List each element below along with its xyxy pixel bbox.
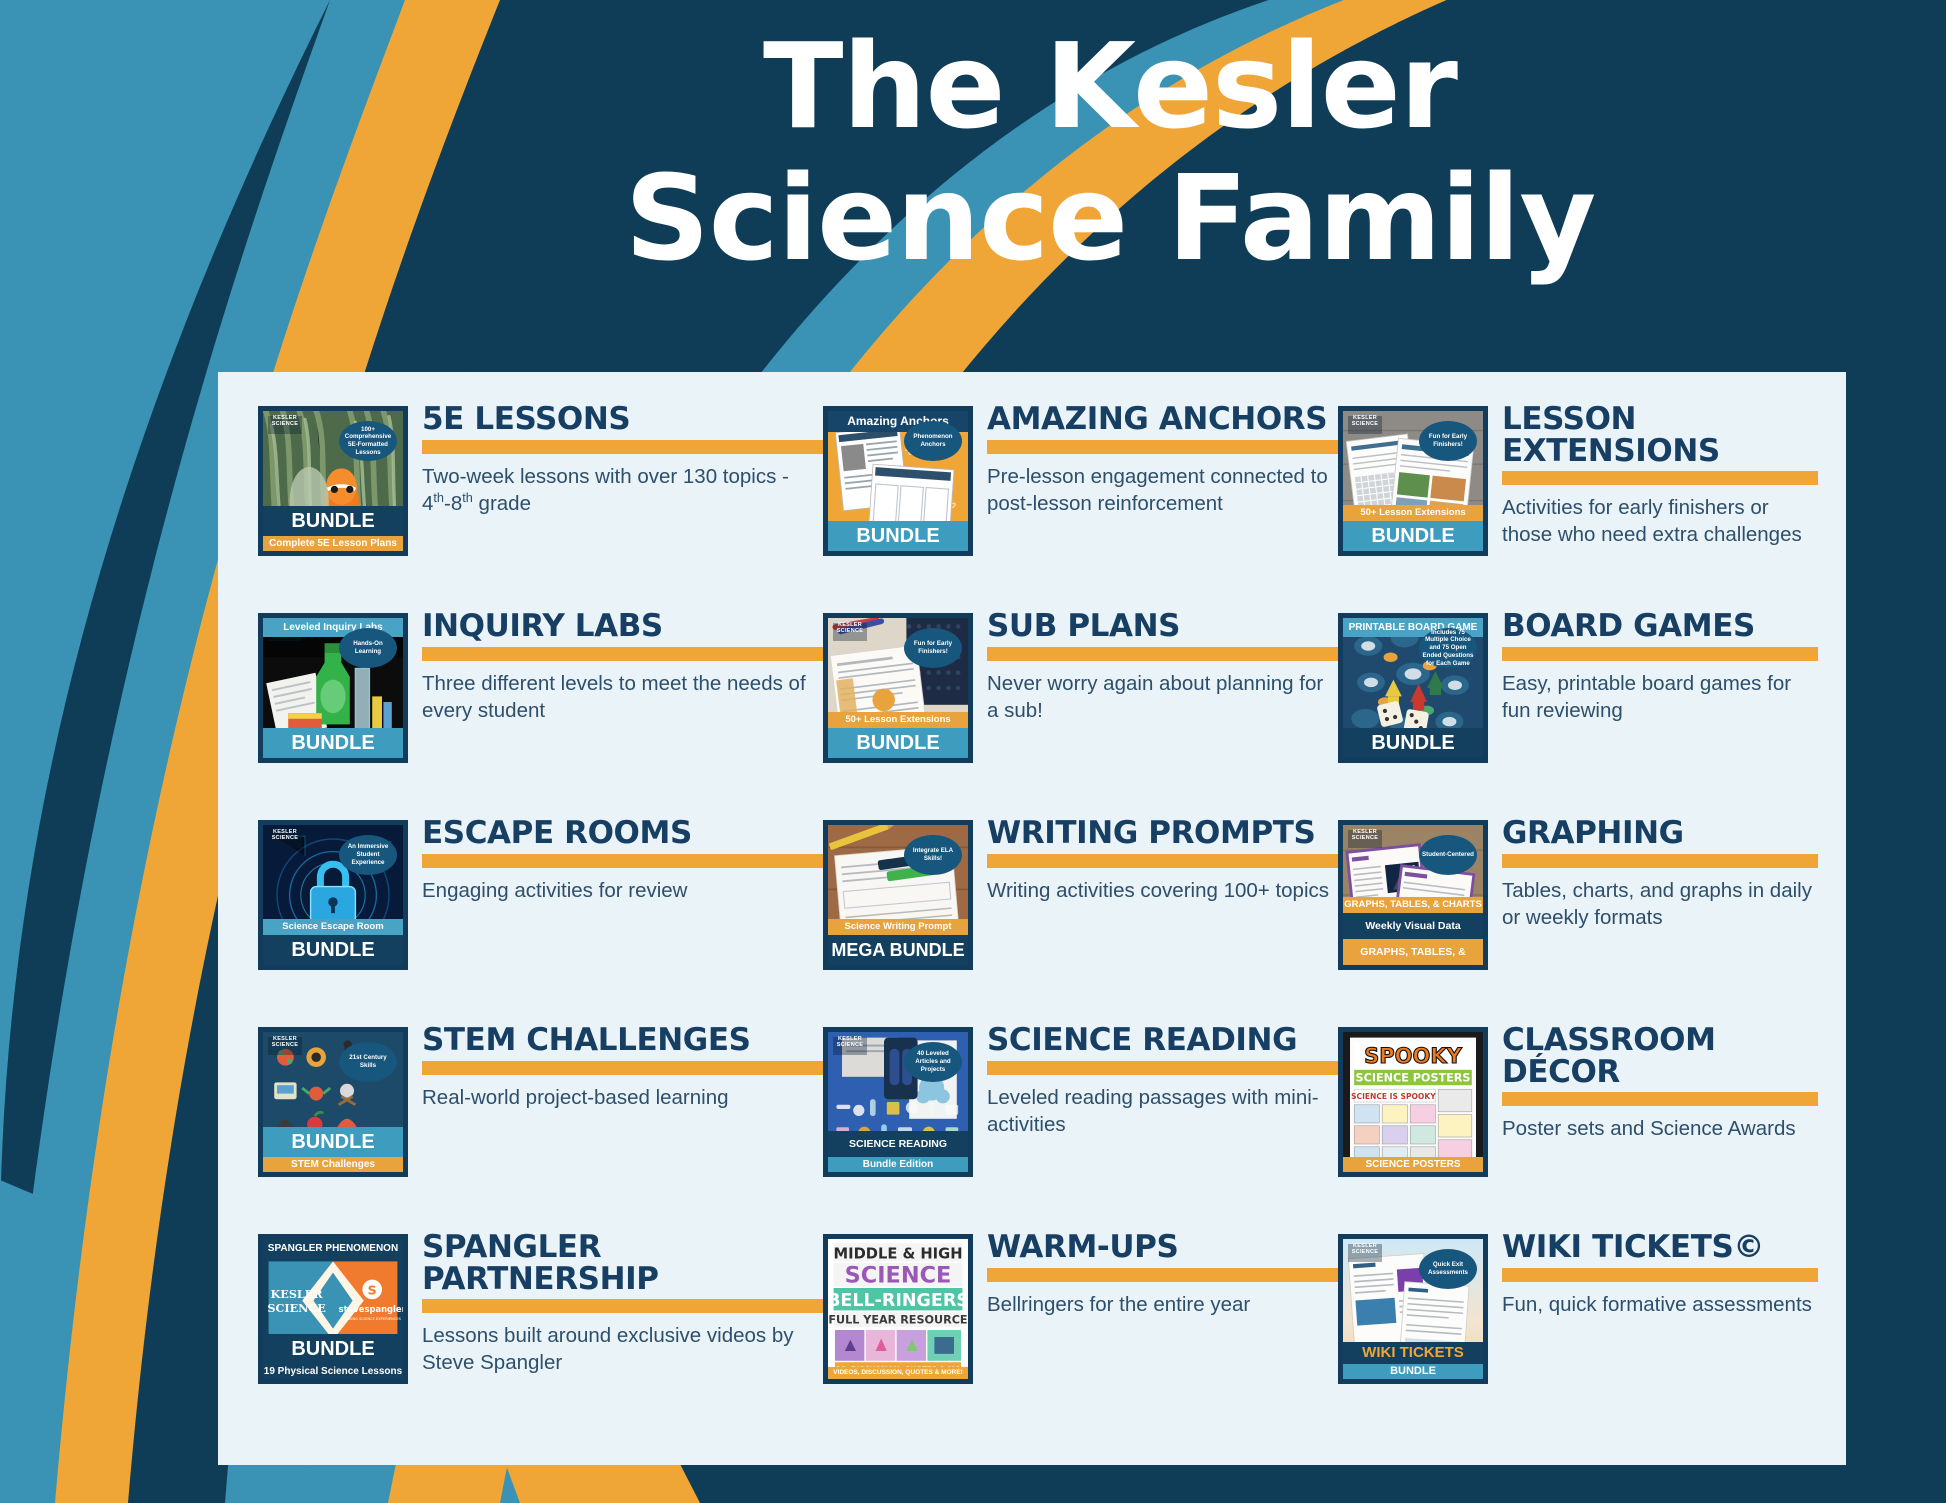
- product-description: Poster sets and Science Awards: [1502, 1115, 1818, 1142]
- kesler-science-logo-icon: KESLERSCIENCE: [833, 1037, 867, 1055]
- product-thumbnail[interactable]: KESLERSCIENCEAn Immersive Student Experi…: [258, 820, 408, 970]
- thumbnail-badge: Hands-On Learning: [339, 628, 397, 668]
- product-card[interactable]: KESLER SCIENCE S stevespangler MAKING SC…: [258, 1230, 823, 1437]
- product-card[interactable]: KESLERSCIENCEAn Immersive Student Experi…: [258, 816, 823, 1023]
- thumbnail-caption-band: Science Escape Room: [263, 919, 403, 935]
- thumbnail-caption-band: GRAPHS, TABLES, & CHARTS: [1343, 939, 1483, 965]
- product-description: Easy, printable board games for fun revi…: [1502, 670, 1818, 724]
- product-thumbnail[interactable]: KESLERSCIENCELeveled Inquiry LabsHands-O…: [258, 613, 408, 763]
- product-description: Leveled reading passages with mini-activ…: [987, 1084, 1338, 1138]
- thumbnail-caption-band: BUNDLE: [263, 506, 403, 536]
- svg-text:MIDDLE & HIGH: MIDDLE & HIGH: [834, 1246, 963, 1263]
- product-title-underline: [422, 1299, 823, 1313]
- product-thumbnail[interactable]: KESLERSCIENCEFun for Early Finishers!BUN…: [823, 613, 973, 763]
- product-title-underline: [422, 440, 823, 454]
- product-title-underline: [987, 440, 1338, 454]
- thumbnail-top-label: SPANGLER PHENOMENON: [263, 1239, 403, 1258]
- product-body: WARM-UPS Bellringers for the entire year: [987, 1230, 1338, 1318]
- product-title-underline: [1502, 1268, 1818, 1282]
- thumbnail-caption-band: BUNDLE: [263, 935, 403, 965]
- product-card[interactable]: SPOOKY SCIENCE POSTERS SCIENCE IS SPOOKY: [1338, 1023, 1818, 1230]
- product-title: SCIENCE READING: [987, 1025, 1338, 1057]
- product-title-underline: [987, 1061, 1338, 1075]
- product-description: Two-week lessons with over 130 topics - …: [422, 463, 823, 517]
- thumbnail-badge: 100+ Comprehensive 5E-Formatted Lessons: [339, 421, 397, 461]
- product-title-underline: [1502, 854, 1818, 868]
- product-thumbnail[interactable]: MIDDLE & HIGH SCIENCE BELL-RINGERS FULL …: [823, 1234, 973, 1384]
- thumbnail-caption-band: BUNDLE: [263, 1127, 403, 1157]
- page-title: The Kesler Science Family: [560, 20, 1660, 284]
- product-card[interactable]: KESLERSCIENCEFun for Early Finishers!BUN…: [1338, 402, 1818, 609]
- product-description: Writing activities covering 100+ topics: [987, 877, 1338, 904]
- product-card[interactable]: Amazing AnchorsPhenomenon AnchorsBUNDLE …: [823, 402, 1338, 609]
- thumbnail-badge: Includes 75 Multiple Choice and 75 Open …: [1419, 628, 1477, 668]
- product-title: LESSON EXTENSIONS: [1502, 404, 1818, 467]
- product-thumbnail[interactable]: KESLERSCIENCE21st Century SkillsSTEM Cha…: [258, 1027, 408, 1177]
- thumbnail-caption-band: BUNDLE: [1343, 521, 1483, 551]
- thumbnail-badge: Phenomenon Anchors: [904, 421, 962, 461]
- thumbnail-caption-band: Complete 5E Lesson Plans: [263, 536, 403, 551]
- thumbnail-badge: 40 Leveled Articles and Projects: [904, 1042, 962, 1082]
- title-line-1: The Kesler: [763, 17, 1457, 155]
- thumbnail-caption-band: STEM Challenges: [263, 1157, 403, 1172]
- thumbnail-badge: An Immersive Student Experience: [339, 835, 397, 875]
- svg-text:SCIENCE: SCIENCE: [845, 1262, 952, 1288]
- thumbnail-caption-band: BUNDLE: [828, 728, 968, 758]
- thumbnail-caption-band: 19 Physical Science Lessons: [263, 1364, 403, 1379]
- product-body: WIKI TICKETS© Fun, quick formative asses…: [1502, 1230, 1818, 1318]
- kesler-science-logo-icon: KESLERSCIENCE: [268, 416, 302, 434]
- thumbnail-badge: Student-Centered: [1419, 835, 1477, 875]
- svg-text:KESLER: KESLER: [271, 1287, 324, 1301]
- product-title: STEM CHALLENGES: [422, 1025, 823, 1057]
- product-description: Lessons built around exclusive videos by…: [422, 1322, 823, 1376]
- product-card[interactable]: KESLERSCIENCE40 Leveled Articles and Pro…: [823, 1023, 1338, 1230]
- svg-text:stevespangler: stevespangler: [339, 1304, 403, 1314]
- thumbnail-caption-band: Bundle Edition: [828, 1157, 968, 1172]
- svg-text:S: S: [368, 1282, 377, 1297]
- svg-text:MAKING SCIENCE EXPERIENCES: MAKING SCIENCE EXPERIENCES: [343, 1317, 401, 1321]
- product-thumbnail[interactable]: KESLERSCIENCEQuick Exit AssessmentsBUNDL…: [1338, 1234, 1488, 1384]
- product-body: STEM CHALLENGES Real-world project-based…: [422, 1023, 823, 1111]
- product-title: BOARD GAMES: [1502, 611, 1818, 643]
- products-panel: KESLERSCIENCE100+ Comprehensive 5E-Forma…: [218, 372, 1846, 1465]
- thumbnail-caption-band: VIDEOS, DISCUSSION, QUOTES & MORE!: [828, 1367, 968, 1379]
- product-title-underline: [422, 647, 823, 661]
- products-grid: KESLERSCIENCE100+ Comprehensive 5E-Forma…: [258, 402, 1818, 1437]
- svg-text:FULL YEAR RESOURCE: FULL YEAR RESOURCE: [828, 1314, 967, 1327]
- product-thumbnail[interactable]: KESLER SCIENCE S stevespangler MAKING SC…: [258, 1234, 408, 1384]
- product-title-underline: [1502, 647, 1818, 661]
- product-card[interactable]: KESLERSCIENCE100+ Comprehensive 5E-Forma…: [258, 402, 823, 609]
- thumbnail-caption-band: WIKI TICKETS: [1343, 1342, 1483, 1364]
- svg-text:SCIENCE POSTERS: SCIENCE POSTERS: [1356, 1072, 1471, 1085]
- thumbnail-caption-band: MEGA BUNDLE: [828, 935, 968, 965]
- product-description: Tables, charts, and graphs in daily or w…: [1502, 877, 1818, 931]
- product-body: LESSON EXTENSIONS Activities for early f…: [1502, 402, 1818, 548]
- product-description: Activities for early finishers or those …: [1502, 494, 1818, 548]
- product-title: SUB PLANS: [987, 611, 1338, 643]
- thumbnail-caption-band: GRAPHS, TABLES, & CHARTS: [1343, 897, 1483, 913]
- product-body: 5E LESSONS Two-week lessons with over 13…: [422, 402, 823, 517]
- product-title-underline: [987, 1268, 1338, 1282]
- product-card[interactable]: PRINTABLE BOARD GAMEIncludes 75 Multiple…: [1338, 609, 1818, 816]
- product-description: Bellringers for the entire year: [987, 1291, 1338, 1318]
- product-thumbnail[interactable]: KESLERSCIENCE100+ Comprehensive 5E-Forma…: [258, 406, 408, 556]
- kesler-science-logo-icon: KESLERSCIENCE: [1348, 1244, 1382, 1262]
- product-thumbnail[interactable]: KESLERSCIENCEFun for Early Finishers!BUN…: [1338, 406, 1488, 556]
- product-title-underline: [987, 854, 1338, 868]
- thumbnail-caption-band: Weekly Visual Data: [1343, 913, 1483, 939]
- product-card[interactable]: MIDDLE & HIGH SCIENCE BELL-RINGERS FULL …: [823, 1230, 1338, 1437]
- svg-text:BELL-RINGERS: BELL-RINGERS: [828, 1291, 968, 1311]
- kesler-science-logo-icon: KESLERSCIENCE: [268, 1037, 302, 1055]
- product-body: ESCAPE ROOMS Engaging activities for rev…: [422, 816, 823, 904]
- product-thumbnail[interactable]: PRINTABLE BOARD GAMEIncludes 75 Multiple…: [1338, 613, 1488, 763]
- product-title-underline: [1502, 1092, 1818, 1106]
- product-description: Pre-lesson engagement connected to post-…: [987, 463, 1338, 517]
- product-card[interactable]: KESLERSCIENCELeveled Inquiry LabsHands-O…: [258, 609, 823, 816]
- product-description: Never worry again about planning for a s…: [987, 670, 1338, 724]
- thumbnail-badge: Quick Exit Assessments: [1419, 1249, 1477, 1289]
- product-card[interactable]: KESLERSCIENCEFun for Early Finishers!BUN…: [823, 609, 1338, 816]
- product-thumbnail[interactable]: Amazing AnchorsPhenomenon AnchorsBUNDLE: [823, 406, 973, 556]
- product-thumbnail[interactable]: KESLERSCIENCE40 Leveled Articles and Pro…: [823, 1027, 973, 1177]
- thumbnail-badge: 21st Century Skills: [339, 1042, 397, 1082]
- infographic-canvas: The Kesler Science Family: [0, 0, 1946, 1503]
- svg-text:SCIENCE: SCIENCE: [267, 1301, 325, 1315]
- product-body: WRITING PROMPTS Writing activities cover…: [987, 816, 1338, 904]
- kesler-science-logo-icon: KESLERSCIENCE: [1348, 830, 1382, 848]
- product-title: WIKI TICKETS©: [1502, 1232, 1818, 1264]
- thumbnail-caption-band: SCIENCE READING COMPREHENSION: [828, 1131, 968, 1157]
- product-card[interactable]: KESLERSCIENCE21st Century SkillsSTEM Cha…: [258, 1023, 823, 1230]
- thumbnail-caption-band: 50+ Lesson Extensions: [828, 712, 968, 728]
- thumbnail-badge: Integrate ELA Skills!: [904, 835, 962, 875]
- thumbnail-caption-band: Science Writing Prompt Activities: [828, 919, 968, 935]
- product-title-underline: [422, 1061, 823, 1075]
- svg-text:SCIENCE IS SPOOKY: SCIENCE IS SPOOKY: [1351, 1092, 1436, 1101]
- thumbnail-caption-band: BUNDLE: [1343, 728, 1483, 758]
- product-title: WARM-UPS: [987, 1232, 1338, 1264]
- product-description: Fun, quick formative assessments: [1502, 1291, 1818, 1318]
- product-body: SUB PLANS Never worry again about planni…: [987, 609, 1338, 724]
- product-card[interactable]: KESLERSCIENCEStudent-CenteredGRAPHS, TAB…: [1338, 816, 1818, 1023]
- product-title: GRAPHING: [1502, 818, 1818, 850]
- product-thumbnail[interactable]: Integrate ELA Skills!MEGA BUNDLEScience …: [823, 820, 973, 970]
- thumbnail-caption-band: BUNDLE: [828, 521, 968, 551]
- thumbnail-caption-band: BUNDLE: [1343, 1364, 1483, 1379]
- product-title: SPANGLER PARTNERSHIP: [422, 1232, 823, 1295]
- product-title: INQUIRY LABS: [422, 611, 823, 643]
- product-body: SCIENCE READING Leveled reading passages…: [987, 1023, 1338, 1138]
- thumbnail-caption-band: 50+ Lesson Extensions: [1343, 505, 1483, 521]
- product-thumbnail[interactable]: SPOOKY SCIENCE POSTERS SCIENCE IS SPOOKY: [1338, 1027, 1488, 1177]
- kesler-science-logo-icon: KESLERSCIENCE: [1348, 416, 1382, 434]
- kesler-science-logo-icon: KESLERSCIENCE: [268, 830, 302, 848]
- product-title: ESCAPE ROOMS: [422, 818, 823, 850]
- product-body: SPANGLER PARTNERSHIP Lessons built aroun…: [422, 1230, 823, 1376]
- product-card[interactable]: KESLERSCIENCEQuick Exit AssessmentsBUNDL…: [1338, 1230, 1818, 1437]
- product-description: Three different levels to meet the needs…: [422, 670, 823, 724]
- thumbnail-caption-band: BUNDLE: [263, 728, 403, 758]
- product-title: AMAZING ANCHORS: [987, 404, 1338, 436]
- product-title: 5E LESSONS: [422, 404, 823, 436]
- thumbnail-badge: Fun for Early Finishers!: [904, 628, 962, 668]
- thumbnail-caption-band: SCIENCE POSTERS: [1343, 1157, 1483, 1172]
- product-card[interactable]: Integrate ELA Skills!MEGA BUNDLEScience …: [823, 816, 1338, 1023]
- product-description: Real-world project-based learning: [422, 1084, 823, 1111]
- kesler-science-logo-icon: KESLERSCIENCE: [833, 623, 867, 641]
- svg-text:SPOOKY: SPOOKY: [1364, 1044, 1462, 1068]
- thumbnail-art: MIDDLE & HIGH SCIENCE BELL-RINGERS FULL …: [828, 1239, 968, 1379]
- product-body: AMAZING ANCHORS Pre-lesson engagement co…: [987, 402, 1338, 517]
- product-title: CLASSROOM DÉCOR: [1502, 1025, 1818, 1088]
- product-thumbnail[interactable]: KESLERSCIENCEStudent-CenteredGRAPHS, TAB…: [1338, 820, 1488, 970]
- product-description: Engaging activities for review: [422, 877, 823, 904]
- title-line-2: Science Family: [560, 152, 1660, 284]
- product-title-underline: [1502, 471, 1818, 485]
- product-title: WRITING PROMPTS: [987, 818, 1338, 850]
- thumbnail-art: SPOOKY SCIENCE POSTERS SCIENCE IS SPOOKY: [1343, 1032, 1483, 1172]
- product-body: CLASSROOM DÉCOR Poster sets and Science …: [1502, 1023, 1818, 1142]
- thumbnail-badge: Fun for Early Finishers!: [1419, 421, 1477, 461]
- product-title-underline: [987, 647, 1338, 661]
- product-body: BOARD GAMES Easy, printable board games …: [1502, 609, 1818, 724]
- product-body: INQUIRY LABS Three different levels to m…: [422, 609, 823, 724]
- thumbnail-caption-band: BUNDLE: [263, 1334, 403, 1364]
- product-body: GRAPHING Tables, charts, and graphs in d…: [1502, 816, 1818, 931]
- product-title-underline: [422, 854, 823, 868]
